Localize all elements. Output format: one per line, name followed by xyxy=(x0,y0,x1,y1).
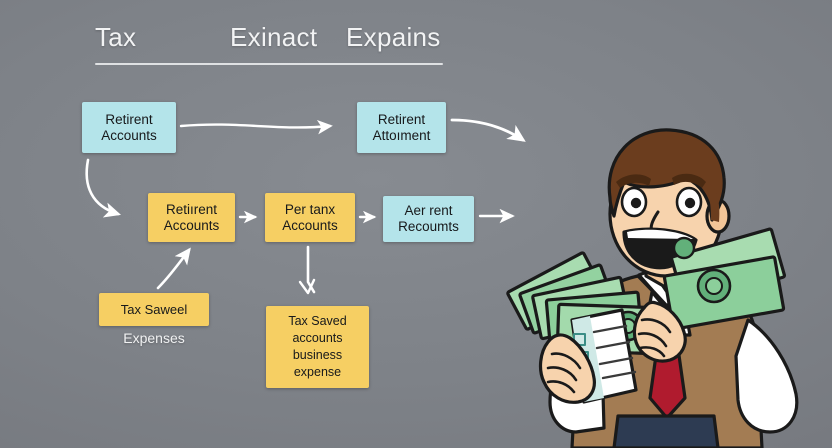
node-tax-saved[interactable]: Tax Saweel xyxy=(99,293,209,326)
node-tax-saved-business[interactable]: Tax Saved accounts business expense xyxy=(266,306,369,388)
title-underline xyxy=(95,63,443,65)
label-expenses: Expenses xyxy=(99,330,209,346)
node-line: Accounts xyxy=(282,218,338,234)
node-pretax-accounts[interactable]: Per tanx Accounts xyxy=(265,193,355,242)
node-retirement-accounts-mid[interactable]: Retiırent Accounts xyxy=(148,193,235,242)
node-line: Tax Saved xyxy=(288,313,346,330)
node-current-accounts[interactable]: Aer rent Recoumts xyxy=(383,196,474,242)
node-retirement-accounts-top[interactable]: Retirent Accounts xyxy=(82,102,176,153)
node-line: Retiırent xyxy=(166,202,217,218)
arm-right-sleeve xyxy=(736,320,797,432)
node-line: Accounts xyxy=(164,218,220,234)
node-line: Retirent xyxy=(378,112,425,128)
page-title: Tax Exinact Expains xyxy=(95,22,455,65)
trousers xyxy=(614,416,718,448)
title-word-1: Tax xyxy=(95,22,230,53)
node-line: business xyxy=(293,347,342,364)
node-line: Tax Saweel xyxy=(121,302,187,318)
node-retirement-attainment[interactable]: Retirent Attoıment xyxy=(357,102,446,153)
money-bills-right xyxy=(664,229,785,330)
title-row: Tax Exinact Expains xyxy=(95,22,455,53)
node-line: Recoumts xyxy=(398,219,459,235)
node-line: Aer rent xyxy=(404,203,452,219)
happy-businessman-illustration xyxy=(500,120,832,448)
title-word-3: Expains xyxy=(346,22,441,53)
node-line: Per tanx xyxy=(285,202,335,218)
node-line: expense xyxy=(294,364,341,381)
pupil-left xyxy=(631,198,641,208)
title-word-2: Exinact xyxy=(230,22,346,53)
screenshot-canvas: Tax Exinact Expains xyxy=(0,0,832,448)
node-line: Retirent xyxy=(105,112,152,128)
node-line: Attoıment xyxy=(373,128,431,144)
bill-seal-right-2 xyxy=(674,238,694,258)
node-line: accounts xyxy=(292,330,342,347)
node-line: Accounts xyxy=(101,128,157,144)
pupil-right xyxy=(685,198,695,208)
